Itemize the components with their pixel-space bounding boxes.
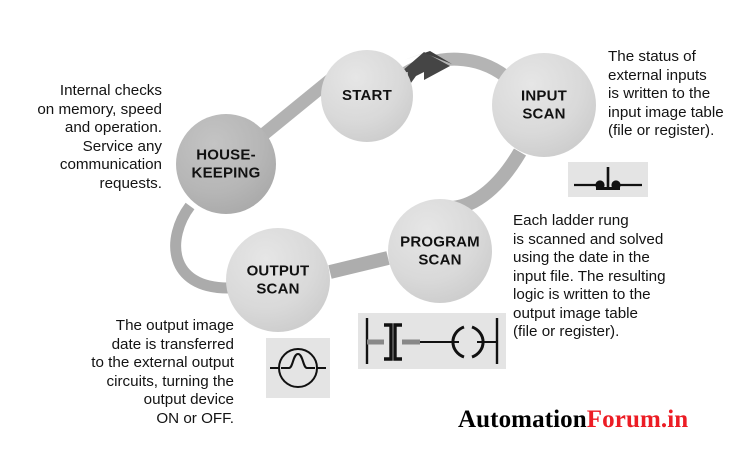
site-logo: AutomationForum.in [458,406,688,434]
note-input-scan: The status of external inputs is written… [608,48,750,141]
pushbutton-switch-symbol [568,162,648,197]
node-circle-input-scan [492,53,596,157]
plc-scan-cycle-diagram: HOUSE- KEEPING START INPUT SCAN PROGRAM … [0,0,750,450]
note-output-scan: The output image date is transferred to … [63,317,234,428]
output-coil-lamp-symbol [266,338,330,398]
node-circle-output-scan [226,228,330,332]
note-housekeeping: Internal checks on memory, speed and ope… [10,82,162,193]
band-output-to-housekeeping [176,206,228,288]
logo-text-forum: Forum.in [587,406,689,433]
node-circle-program-scan [388,199,492,303]
logo-text-automation: Automation [458,406,587,433]
band-program-to-output [330,258,388,272]
band-input-to-program [452,152,520,208]
node-circle-start [321,50,413,142]
node-circle-housekeeping [176,114,276,214]
ladder-rung-symbol [358,313,506,369]
note-program-scan: Each ladder rung is scanned and solved u… [513,212,713,342]
